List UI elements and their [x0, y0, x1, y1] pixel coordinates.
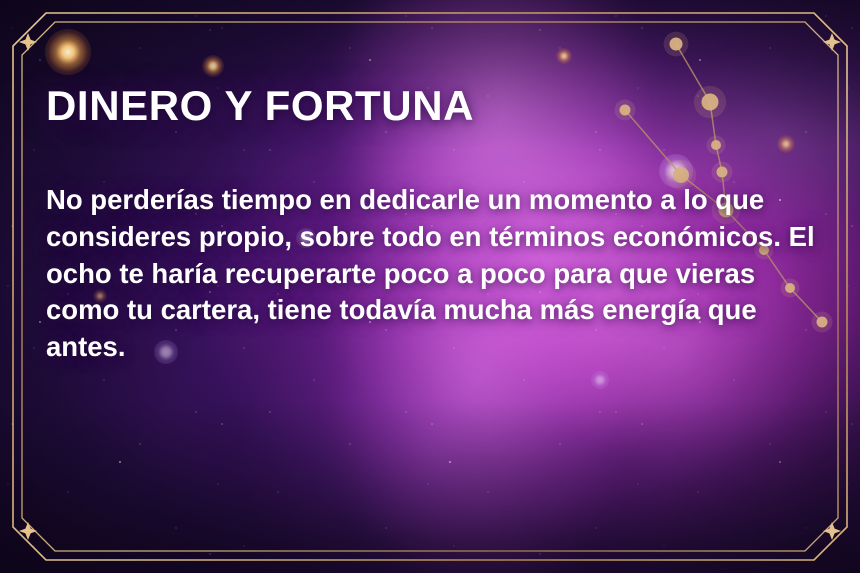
card-content: DINERO Y FORTUNA No perderías tiempo en … — [46, 84, 816, 366]
card-body-text: No perderías tiempo en dedicarle un mome… — [46, 128, 816, 366]
horoscope-card: DINERO Y FORTUNA No perderías tiempo en … — [0, 0, 860, 573]
page-title: DINERO Y FORTUNA — [46, 84, 816, 128]
